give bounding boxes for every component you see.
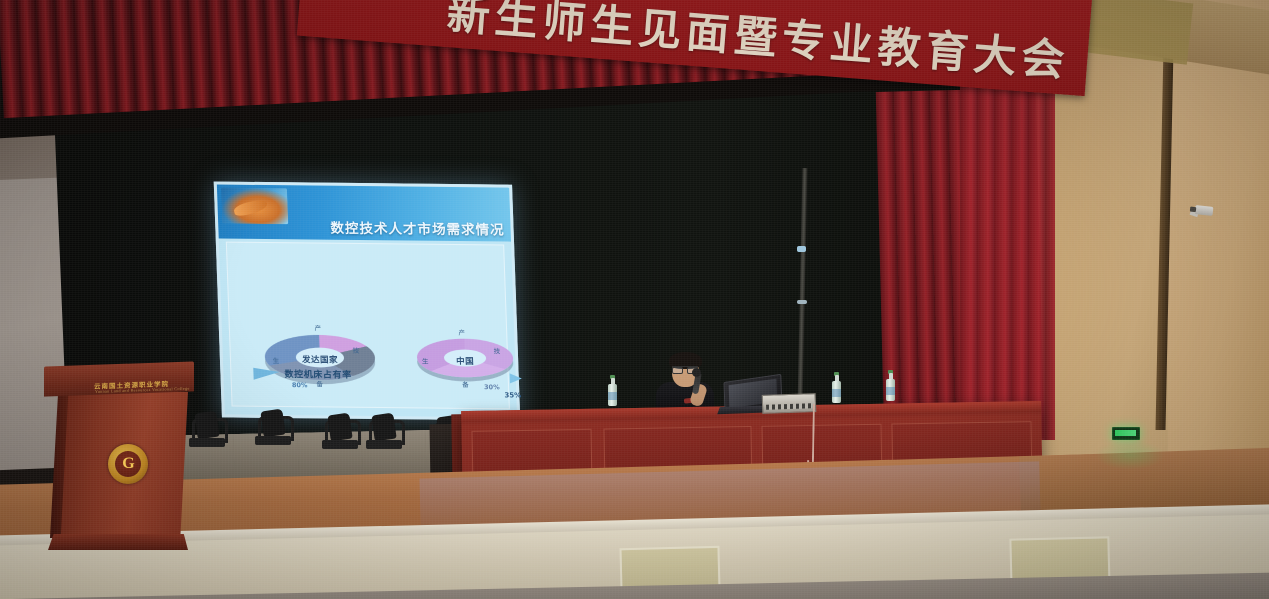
slide-decoration-image bbox=[221, 188, 288, 225]
college-emblem: G bbox=[108, 444, 148, 484]
light-base bbox=[255, 436, 291, 445]
segment-label: 备 bbox=[462, 379, 469, 389]
chart-developed-countries: 发达国家 产 技 生 备 80% bbox=[263, 309, 376, 406]
podium-base bbox=[48, 534, 188, 550]
exit-sign-glow bbox=[1095, 440, 1165, 470]
red-stage-curtain-outer bbox=[960, 80, 1055, 440]
emergency-exit-sign bbox=[1112, 427, 1140, 440]
bottle-label bbox=[608, 392, 617, 400]
growth-arrow-icon bbox=[510, 373, 522, 383]
auditorium-photo: 新生师生见面暨专业教育大会 数控技术人才市场需求情况 发达国家 产 技 生 备 … bbox=[0, 0, 1269, 599]
slide-header-band: 数控技术人才市场需求情况 bbox=[217, 185, 511, 242]
segment-label: 生 bbox=[422, 356, 429, 366]
bottle-label bbox=[832, 389, 841, 397]
light-head bbox=[260, 409, 285, 438]
slide-legend-label: 数控机床占有率 bbox=[284, 367, 352, 381]
security-camera-icon bbox=[1195, 205, 1214, 216]
donut-percent-label: 30% bbox=[484, 383, 500, 391]
segment-label: 产 bbox=[314, 323, 321, 333]
segment-label: 技 bbox=[353, 344, 360, 354]
light-base bbox=[366, 440, 402, 449]
projection-screen-surface: 数控技术人才市场需求情况 发达国家 产 技 生 备 80% bbox=[214, 182, 521, 421]
light-head bbox=[194, 411, 219, 440]
bottle-label bbox=[886, 387, 895, 395]
segment-label: 产 bbox=[458, 327, 465, 337]
pole-clip bbox=[797, 300, 807, 304]
arrow-percent-label: 35% bbox=[504, 391, 521, 399]
segment-label: 生 bbox=[273, 355, 280, 365]
light-base bbox=[322, 440, 358, 449]
projection-screen: 数控技术人才市场需求情况 发达国家 产 技 生 备 80% bbox=[214, 182, 521, 421]
slide-legend: 数控机床占有率 bbox=[253, 367, 352, 381]
triangle-marker-icon bbox=[253, 367, 279, 379]
light-head bbox=[371, 413, 396, 442]
donut-center-label: 中国 bbox=[417, 354, 514, 367]
segment-label: 技 bbox=[493, 345, 500, 355]
lectern-podium: G 云南国土资源职业学院 Yunnan Land and Resources V… bbox=[40, 364, 198, 554]
slide-body: 发达国家 产 技 生 备 80% 中国 产 技 生 备 30% bbox=[226, 242, 510, 410]
pole-light-fixture bbox=[797, 246, 806, 252]
slide-title: 数控技术人才市场需求情况 bbox=[330, 217, 505, 239]
chart-china: 中国 产 技 生 备 30% bbox=[416, 316, 515, 399]
av-device bbox=[762, 393, 817, 414]
presenter bbox=[650, 352, 720, 414]
donut-center-label: 发达国家 bbox=[265, 353, 376, 366]
microphone-head bbox=[692, 368, 701, 377]
donut-percent-label: 80% bbox=[292, 381, 308, 389]
light-head bbox=[327, 413, 352, 442]
emblem-letter: G bbox=[120, 454, 137, 474]
